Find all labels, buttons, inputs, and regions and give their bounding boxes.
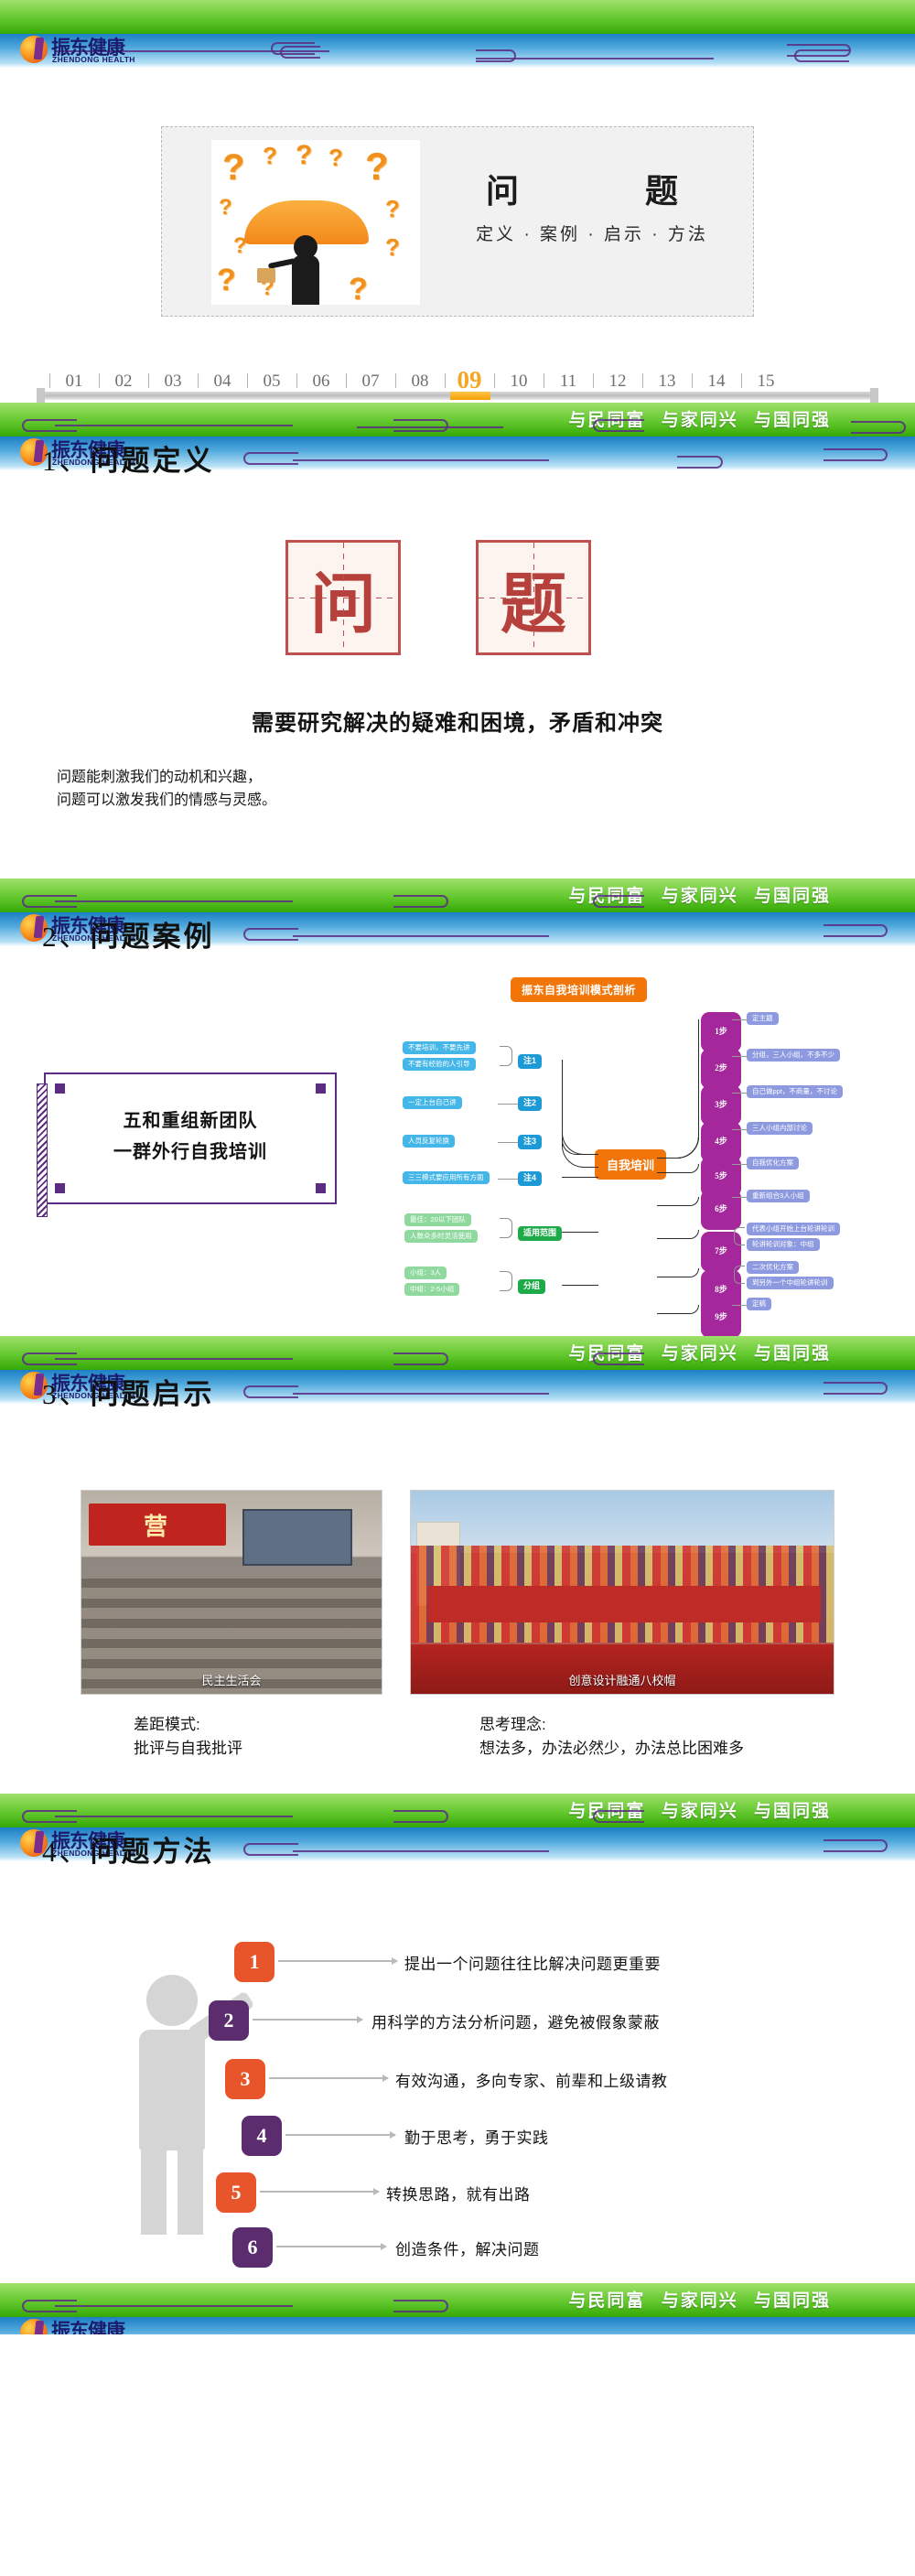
- photo-group: 创意设计融通八校帽: [410, 1490, 834, 1695]
- method-step-badge-5: 5: [216, 2172, 256, 2213]
- section-title-insight: 3、问题启示: [42, 1371, 215, 1412]
- method-step-badge-2: 2: [209, 2000, 249, 2041]
- method-step-badge-4: 4: [242, 2116, 282, 2156]
- mindmap-step-leaf: 自己做ppt，不商量，不讨论: [747, 1085, 843, 1098]
- mindmap-node-注1: 注1: [518, 1054, 542, 1069]
- mindmap-step-leaf: 定主题: [747, 1012, 779, 1025]
- page-banner-bottom: 与民同富 与家同兴 与国同强 振东健康 ZHENDONG HEALTH: [0, 2283, 915, 2334]
- method-step-badge-1: 1: [234, 1942, 274, 1982]
- page-number-14[interactable]: 14: [692, 366, 741, 394]
- method-step-arrow: [269, 2077, 388, 2079]
- page-number-strip[interactable]: 010203040506070809101112131415: [37, 366, 878, 403]
- slogan-part-3: 与国同强: [754, 411, 831, 430]
- caption-gap-model: 差距模式: 批评与自我批评: [134, 1713, 242, 1762]
- mindmap-node-注3: 注3: [518, 1135, 542, 1149]
- mindmap-leaf: 不要培训，不要先讲: [403, 1041, 476, 1054]
- method-step-text-5: 转换思路，就有出路: [386, 2182, 531, 2204]
- definition-notes: 问题能刺激我们的动机和兴趣， 问题可以激发我们的情感与灵感。: [57, 767, 276, 813]
- slogan-part-2: 与家同兴: [662, 411, 738, 430]
- method-step-arrow: [260, 2191, 379, 2193]
- mindmap-leaf: 中组：2-5小组: [404, 1283, 459, 1296]
- section-title-case: 2、问题案例: [42, 913, 215, 954]
- page-number-01[interactable]: 01: [49, 366, 99, 394]
- mindmap-title: 振东自我培训模式剖析: [511, 977, 647, 1002]
- seal-character-wen: 问: [285, 540, 401, 655]
- mindmap-step-3步: 3步: [701, 1085, 741, 1126]
- pager-numbers[interactable]: 010203040506070809101112131415: [49, 366, 791, 394]
- method-step-text-1: 提出一个问题往往比解决问题更重要: [404, 1951, 661, 1974]
- method-step-arrow: [278, 1960, 397, 1962]
- mindmap-leaf: 不要有经验的人引导: [403, 1058, 476, 1071]
- page-number-09[interactable]: 09: [445, 366, 494, 394]
- definition-lead: 需要研究解决的疑难和困境，矛盾和冲突: [0, 705, 915, 737]
- cover-illustration: ? ? ? ? ? ? ? ? ? ? ? ?: [211, 140, 420, 305]
- mindmap-node-分组: 分组: [518, 1279, 545, 1294]
- method-step-text-3: 有效沟通，多向专家、前辈和上级请教: [395, 2068, 668, 2091]
- cover-title-block: 问 题 定义 · 案例 · 启示 · 方法: [436, 173, 748, 245]
- page-number-04[interactable]: 04: [198, 366, 247, 394]
- mindmap: 振东自我培训模式剖析 自我培训 注1不要培训，不要先讲不要有经验的人引导注2一定…: [382, 977, 900, 1325]
- page-number-11[interactable]: 11: [544, 366, 593, 394]
- mindmap-step-leaf: 二次优化方案: [747, 1261, 799, 1274]
- definition-note-2: 问题可以激发我们的情感与灵感。: [57, 790, 276, 813]
- page-number-08[interactable]: 08: [395, 366, 445, 394]
- caption-thinking-concept: 思考理念: 想法多，办法必然少，办法总比困难多: [479, 1713, 744, 1762]
- slide-method: 与民同富 与家同兴 与国同强 振东健康 ZHENDONG HEALTH 4、问题…: [0, 1794, 915, 2283]
- mindmap-leaf: 人数众多时灵活使用: [404, 1230, 478, 1243]
- slide-case: 与民同富 与家同兴 与国同强 振东健康 ZHENDONG HEALTH 2、问题…: [0, 878, 915, 1336]
- page-number-15[interactable]: 15: [741, 366, 791, 394]
- page-number-03[interactable]: 03: [148, 366, 198, 394]
- seal-character-ti: 题: [476, 540, 591, 655]
- page-number-13[interactable]: 13: [642, 366, 692, 394]
- case-framebox: 五和重组新团队 一群外行自我培训: [44, 1072, 337, 1204]
- briefcase-icon: [257, 268, 275, 283]
- case-framebox-text: 五和重组新团队 一群外行自我培训: [46, 1105, 335, 1168]
- page-number-10[interactable]: 10: [494, 366, 544, 394]
- slide-insight: 与民同富 与家同兴 与国同强 振东健康 ZHENDONG HEALTH 3、问题…: [0, 1336, 915, 1794]
- brand-logo: 振东健康 ZHENDONG HEALTH: [20, 33, 157, 68]
- method-step-badge-3: 3: [225, 2059, 265, 2099]
- brand-slogan: 与民同富 与家同兴 与国同强: [568, 2287, 831, 2312]
- page-number-07[interactable]: 07: [346, 366, 395, 394]
- method-step-text-4: 勤于思考，勇于实践: [404, 2125, 549, 2148]
- slide-cover: 振东健康 ZHENDONG HEALTH ? ? ? ? ? ? ? ? ? ?…: [0, 0, 915, 403]
- mindmap-step-leaf: 重新组合3人小组: [747, 1190, 810, 1202]
- mindmap-step-9步: 9步: [701, 1298, 741, 1336]
- definition-note-1: 问题能刺激我们的动机和兴趣，: [57, 767, 276, 790]
- mindmap-leaf: 小组：3人: [404, 1266, 447, 1279]
- section-number: 1、: [42, 445, 91, 477]
- mindmap-step-leaf: 自我优化方案: [747, 1157, 799, 1169]
- photo-banner-text: 营: [89, 1504, 226, 1546]
- method-step-arrow: [276, 2246, 386, 2247]
- brand-logo: 振东健康 ZHENDONG HEALTH: [20, 2316, 157, 2334]
- mindmap-leaf: 最佳：20以下团队: [404, 1213, 471, 1226]
- figure-body: [292, 255, 319, 305]
- mindmap-node-适用范围: 适用范围: [518, 1226, 562, 1241]
- mindmap-step-leaf: 三人小组内部讨论: [747, 1122, 813, 1135]
- page-number-02[interactable]: 02: [99, 366, 148, 394]
- mindmap-leaf: 人员反复轮换: [403, 1135, 455, 1148]
- mindmap-step-1步: 1步: [701, 1012, 741, 1052]
- mindmap-center-node: 自我培训: [595, 1149, 666, 1180]
- brand-name-en: ZHENDONG HEALTH: [52, 55, 135, 64]
- page-banner-top: 振东健康 ZHENDONG HEALTH: [0, 0, 915, 68]
- projector-screen: [242, 1509, 352, 1566]
- photo-red-banner: [427, 1586, 821, 1622]
- section-heading: 问题定义: [91, 445, 215, 477]
- brand-mark-icon: [20, 36, 48, 63]
- slide-deck: 振东健康 ZHENDONG HEALTH ? ? ? ? ? ? ? ? ? ?…: [0, 0, 915, 2334]
- cover-title: 问 题: [436, 173, 748, 210]
- mindmap-step-leaf: 分组，三人小组，不多不少: [747, 1049, 840, 1062]
- cover-subtitle: 定义 · 案例 · 启示 · 方法: [436, 221, 748, 245]
- mindmap-step-leaf: 轮讲轮训对象：中组: [747, 1238, 820, 1251]
- method-step-badge-6: 6: [232, 2227, 273, 2268]
- mindmap-step-leaf: 定稿: [747, 1298, 771, 1310]
- cover-card: ? ? ? ? ? ? ? ? ? ? ? ? 问 题 定义 · 案例: [161, 126, 754, 317]
- mindmap-leaf: 一定上台自己讲: [403, 1096, 462, 1109]
- method-step-arrow: [253, 2019, 362, 2021]
- method-step-text-2: 用科学的方法分析问题，避免被假象蒙蔽: [371, 2010, 660, 2032]
- mindmap-node-注2: 注2: [518, 1096, 542, 1111]
- section-title-method: 4、问题方法: [42, 1828, 215, 1870]
- method-step-text-6: 创造条件，解决问题: [395, 2236, 540, 2259]
- slide-definition: 与民同富 与家同兴 与国同强 振东健康 ZHENDONG HEALTH 1、问题…: [0, 403, 915, 878]
- mindmap-step-leaf: 到另外一个中组轮讲轮训: [747, 1277, 834, 1289]
- mindmap-leaf: 三三模式要应用所有方面: [403, 1171, 490, 1184]
- photo-meeting: 营 民主生活会: [81, 1490, 382, 1695]
- mindmap-step-2步: 2步: [701, 1049, 741, 1089]
- mindmap-step-6步: 6步: [701, 1190, 741, 1230]
- mindmap-step-leaf: 代表小组开始上台轮讲轮训: [747, 1223, 840, 1235]
- method-step-arrow: [285, 2134, 395, 2136]
- mindmap-node-注4: 注4: [518, 1171, 542, 1186]
- photo-sky: [411, 1491, 834, 1553]
- section-title-definition: 1、问题定义: [42, 437, 215, 479]
- photo-inner-caption: 创意设计融通八校帽: [411, 1671, 834, 1688]
- photo-inner-caption: 民主生活会: [81, 1671, 382, 1688]
- page-number-06[interactable]: 06: [296, 366, 346, 394]
- page-number-12[interactable]: 12: [593, 366, 642, 394]
- banner-green-band: [0, 0, 915, 34]
- page-number-05[interactable]: 05: [247, 366, 296, 394]
- brand-mark-icon: [20, 2319, 48, 2334]
